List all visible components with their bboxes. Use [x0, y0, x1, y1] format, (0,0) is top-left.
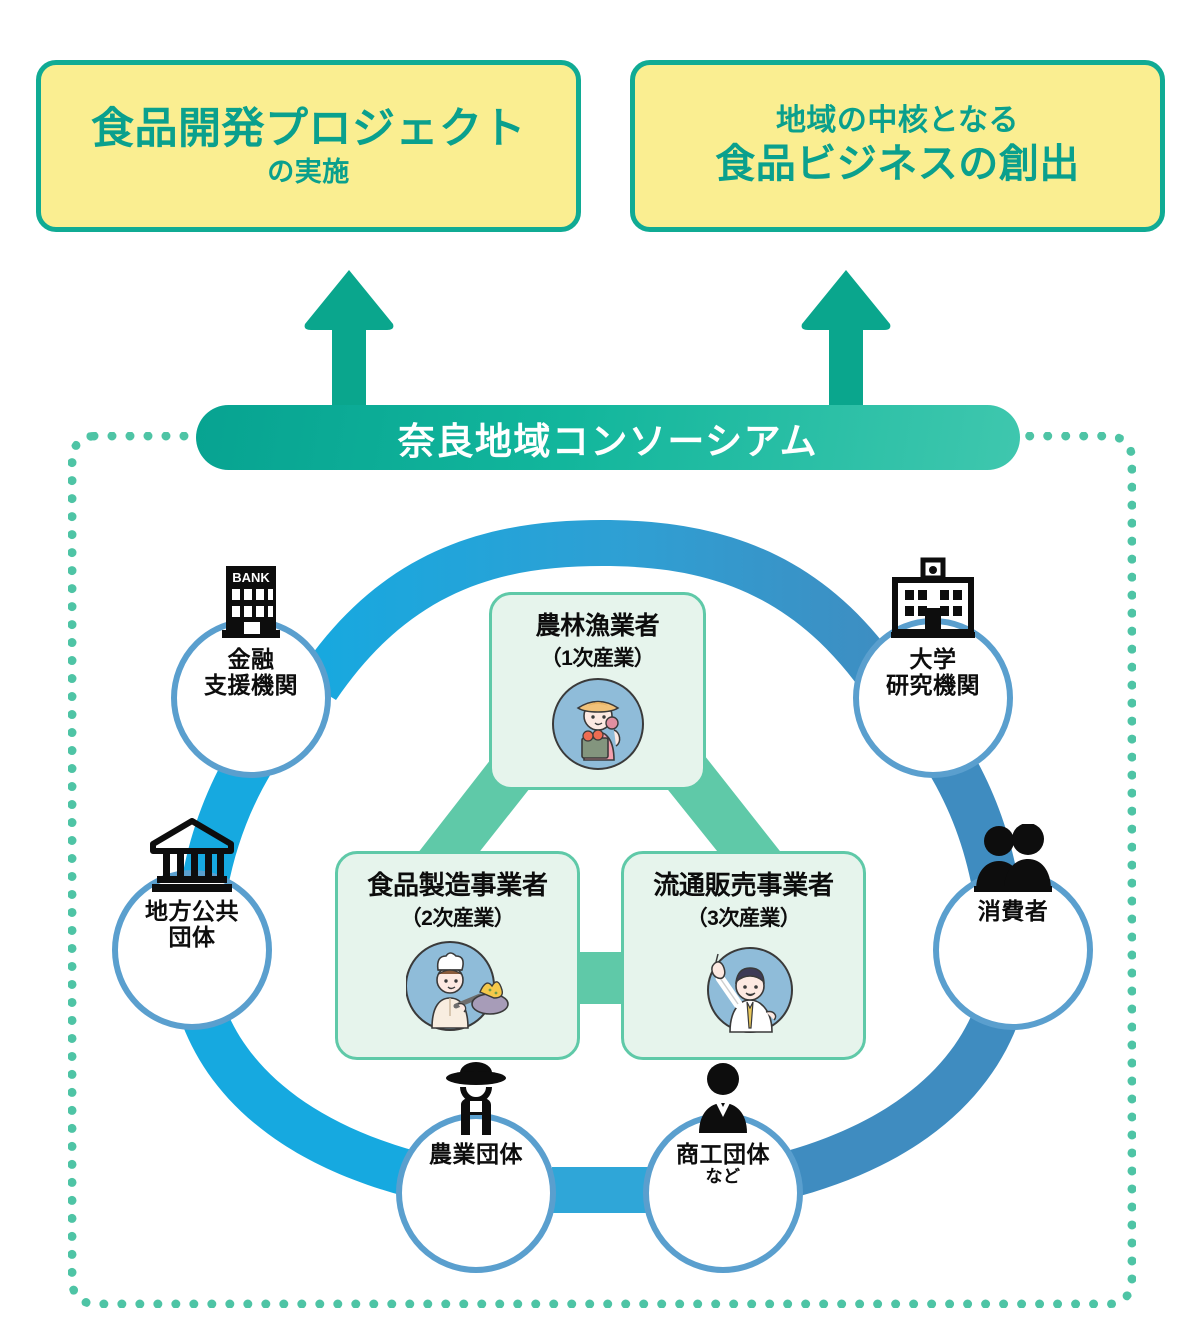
commerce-sub: など — [676, 1168, 770, 1187]
value-chain-box-primary[interactable]: 農林漁業者 （1次産業） — [489, 592, 706, 790]
stakeholder-label-university: 大学 研究機関 — [886, 646, 980, 699]
goal-left-line2: の実施 — [267, 156, 350, 189]
businessman-icon — [683, 1077, 763, 1139]
farmer-illustration — [552, 678, 644, 775]
stakeholder-node-university[interactable]: 大学 研究機関 — [855, 620, 1011, 776]
commerce-line1: 商工団体 — [676, 1141, 770, 1167]
government-building-icon — [149, 834, 235, 896]
agriculture-line1: 農業団体 — [429, 1141, 523, 1167]
bank-building-icon: BANK — [212, 582, 290, 644]
stakeholder-node-finance[interactable]: BANK 金融 支援機関 — [173, 620, 329, 776]
university-building-icon — [887, 582, 979, 644]
consortium-title-banner: 奈良地域コンソーシアム — [196, 405, 1020, 470]
secondary-sub: （2次産業） — [401, 902, 515, 932]
stakeholder-node-consumer[interactable]: 消費者 — [935, 872, 1091, 1028]
goal-right-line2: 食品ビジネスの創出 — [715, 140, 1080, 189]
farmer-person-icon — [436, 1077, 516, 1139]
salesperson-illustration — [692, 938, 796, 1039]
primary-sub: （1次産業） — [541, 642, 655, 672]
secondary-title: 食品製造事業者 — [367, 872, 548, 899]
goal-left-line1: 食品開発プロジェクト — [91, 103, 526, 155]
value-chain-box-tertiary[interactable]: 流通販売事業者 （3次産業） — [621, 851, 866, 1060]
local-government-line2: 団体 — [145, 924, 239, 950]
finance-line2: 支援機関 — [204, 672, 298, 698]
chef-illustration — [406, 938, 510, 1039]
goal-box-business-creation: 地域の中核となる 食品ビジネスの創出 — [630, 60, 1165, 232]
two-people-icon — [970, 834, 1056, 896]
upward-arrow-icon-left — [303, 268, 395, 408]
value-chain-box-secondary[interactable]: 食品製造事業者 （2次産業） — [335, 851, 580, 1060]
stakeholder-label-commerce: 商工団体 など — [676, 1141, 770, 1187]
stakeholder-node-agriculture[interactable]: 農業団体 — [398, 1115, 554, 1271]
stakeholder-node-local-government[interactable]: 地方公共 団体 — [114, 872, 270, 1028]
university-line1: 大学 — [886, 646, 980, 672]
stakeholder-label-local-government: 地方公共 団体 — [145, 898, 239, 951]
local-government-line1: 地方公共 — [145, 898, 239, 924]
finance-line1: 金融 — [204, 646, 298, 672]
consumer-line1: 消費者 — [978, 898, 1049, 924]
tertiary-title: 流通販売事業者 — [653, 872, 834, 899]
stakeholder-label-finance: 金融 支援機関 — [204, 646, 298, 699]
stakeholder-label-consumer: 消費者 — [978, 898, 1049, 924]
diagram-canvas: 食品開発プロジェクト の実施 地域の中核となる 食品ビジネスの創出 奈良地域コン… — [0, 0, 1200, 1343]
stakeholder-node-commerce[interactable]: 商工団体 など — [645, 1115, 801, 1271]
tertiary-sub: （3次産業） — [687, 902, 801, 932]
university-line2: 研究機関 — [886, 672, 980, 698]
goal-box-project-implementation: 食品開発プロジェクト の実施 — [36, 60, 581, 232]
stakeholder-label-agriculture: 農業団体 — [429, 1141, 523, 1167]
svg-text:BANK: BANK — [232, 570, 270, 585]
upward-arrow-icon-right — [800, 268, 892, 408]
consortium-title-text: 奈良地域コンソーシアム — [398, 411, 818, 465]
primary-title: 農林漁業者 — [535, 613, 659, 639]
goal-right-line1: 地域の中核となる — [776, 103, 1019, 140]
